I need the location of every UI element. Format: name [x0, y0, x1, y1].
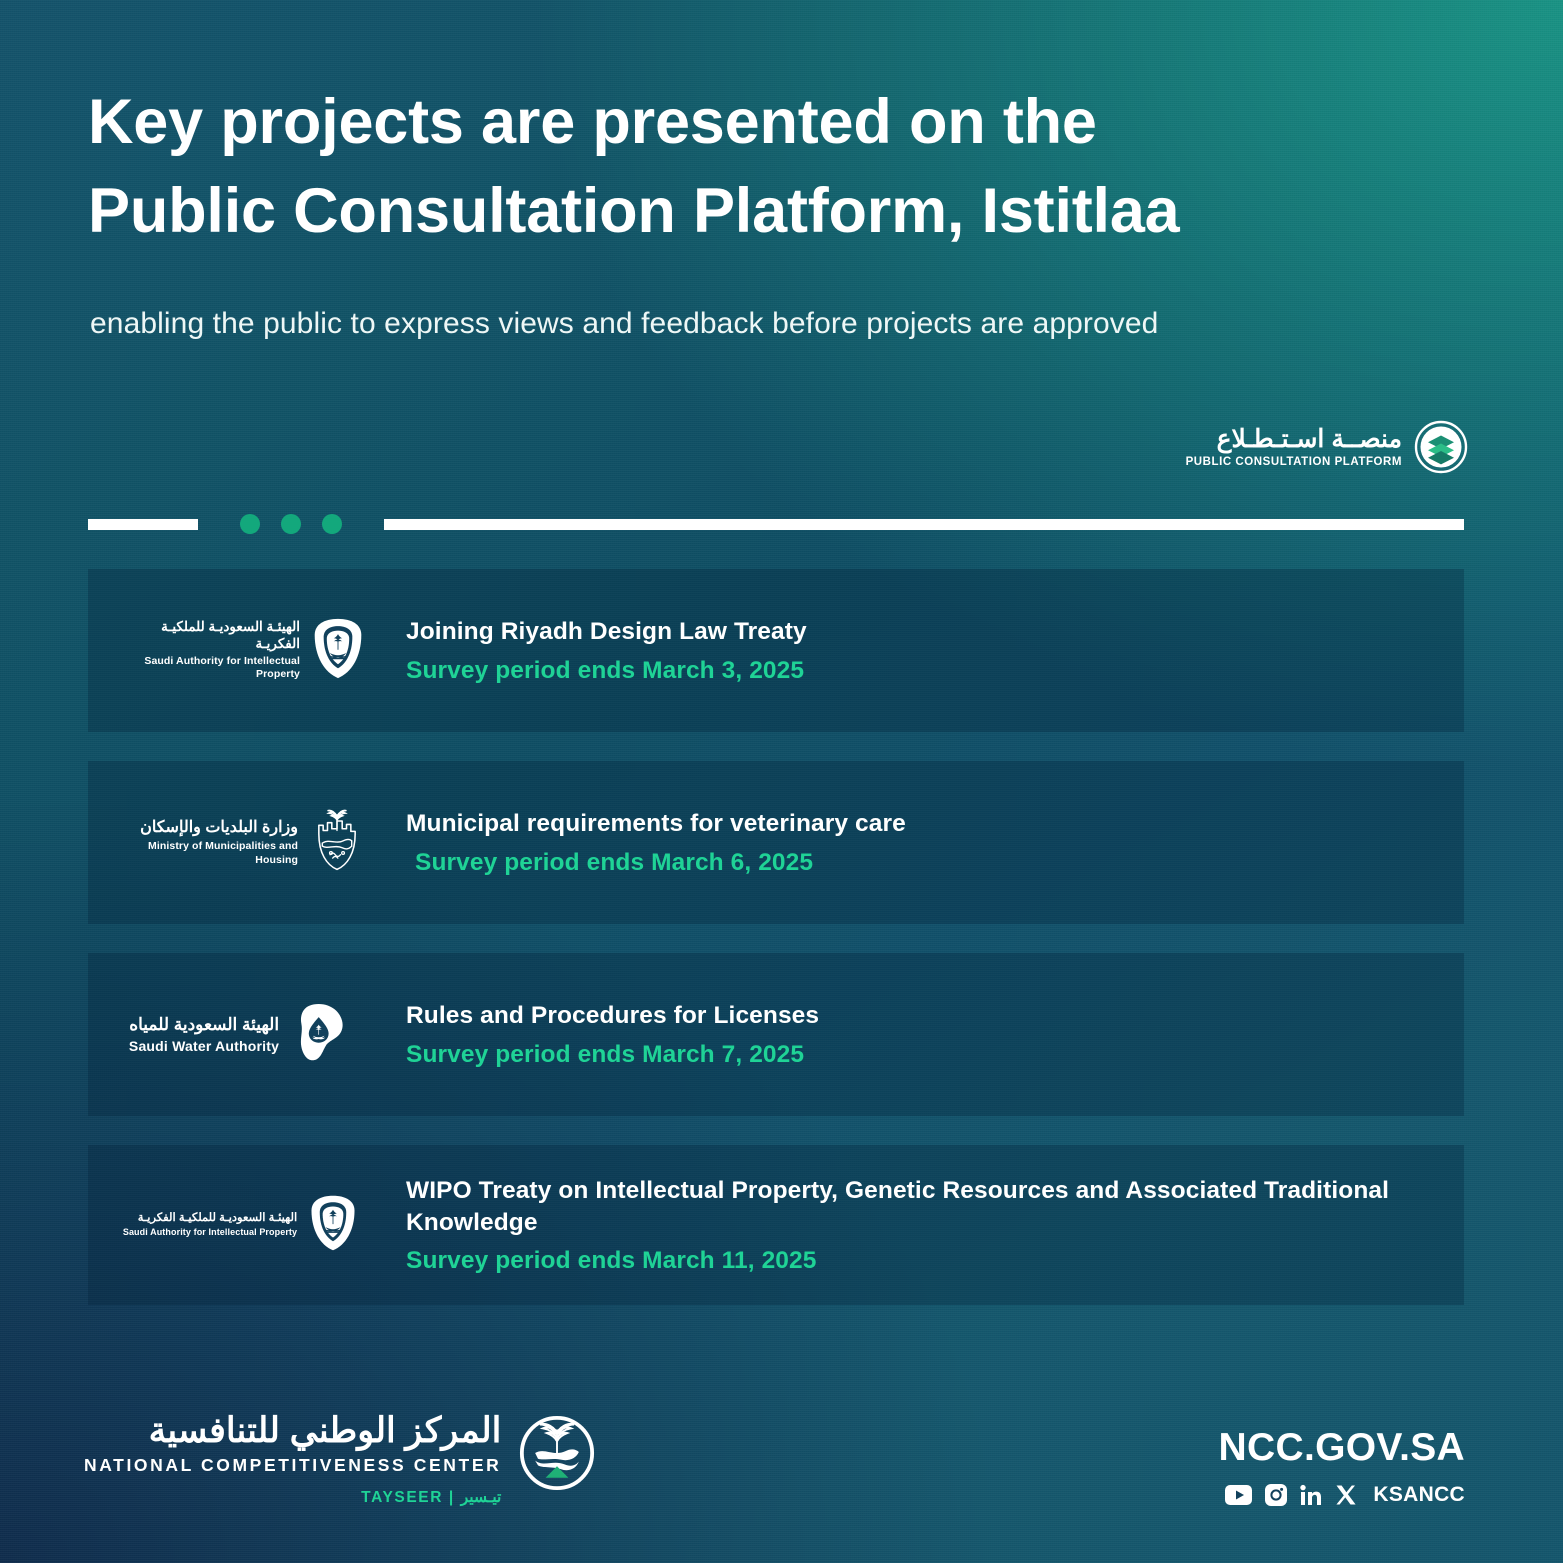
card-content: Municipal requirements for veterinary ca… [374, 808, 1436, 877]
survey-period: Survey period ends March 7, 2025 [406, 1041, 1436, 1069]
ncc-palm-swords-circle-icon [519, 1415, 595, 1496]
saudi-water-logo: الهيئة السعودية للمياه Saudi Water Autho… [129, 999, 351, 1070]
list-item[interactable]: الهيئة السعودية للمياه Saudi Water Autho… [88, 953, 1464, 1116]
ncc-name-arabic: المركز الوطني للتنافسية [84, 1411, 501, 1451]
divider-dots [240, 514, 342, 534]
ncc-name-english: NATIONAL COMPETITIVENESS CENTER [84, 1455, 501, 1476]
platform-logo: منصــة اسـتـطـلاع PUBLIC CONSULTATION PL… [1186, 420, 1468, 474]
project-title: Rules and Procedures for Licenses [406, 1000, 1436, 1032]
instagram-icon[interactable] [1265, 1484, 1287, 1506]
platform-logo-text: منصــة اسـتـطـلاع PUBLIC CONSULTATION PL… [1186, 426, 1402, 469]
org-name-english: Saudi Authority for Intellectual Propert… [123, 1227, 297, 1239]
saip-shield-palm-icon [309, 1194, 357, 1257]
card-content: WIPO Treaty on Intellectual Property, Ge… [374, 1175, 1436, 1276]
saip-shield-palm-icon [312, 617, 364, 685]
platform-logo-english: PUBLIC CONSULTATION PLATFORM [1186, 456, 1402, 468]
momah-skyline-emblem-icon [310, 808, 364, 877]
org-name-arabic: وزارة البلديات والإسكان [116, 818, 298, 838]
org-logo-text: وزارة البلديات والإسكان Ministry of Muni… [116, 818, 298, 867]
card-content: Rules and Procedures for Licenses Survey… [374, 1000, 1436, 1069]
poster-page: Key projects are presented on the Public… [0, 0, 1563, 1563]
saudi-water-droplet-map-icon [293, 999, 351, 1070]
project-title: Joining Riyadh Design Law Treaty [406, 616, 1436, 648]
org-name-english: Saudi Authority for Intellectual Propert… [116, 655, 300, 682]
website-url[interactable]: NCC.GOV.SA [1219, 1426, 1465, 1470]
page-subtitle: enabling the public to express views and… [90, 304, 1470, 345]
saip-logo: الهيئـة السعوديـة للملكيـة الفكريـة Saud… [116, 617, 364, 685]
org-name-arabic: الهيئـة السعوديـة للملكيـة الفكريـة [123, 1211, 297, 1225]
org-logo: الهيئة السعودية للمياه Saudi Water Autho… [116, 999, 374, 1070]
org-name-english: Ministry of Municipalities and Housing [116, 840, 298, 867]
org-logo: الهيئـة السعوديـة للملكيـة الفكريـة Saud… [116, 1194, 374, 1257]
divider-dot [281, 514, 301, 534]
project-list: الهيئـة السعوديـة للملكيـة الفكريـة Saud… [88, 569, 1464, 1334]
layers-stack-icon [1414, 420, 1468, 474]
x-twitter-icon[interactable] [1335, 1484, 1357, 1506]
project-title: Municipal requirements for veterinary ca… [406, 808, 1436, 840]
card-content: Joining Riyadh Design Law Treaty Survey … [374, 616, 1436, 685]
divider-dash [88, 519, 198, 530]
divider [88, 514, 1464, 534]
youtube-icon[interactable] [1225, 1485, 1252, 1505]
tayseer-label: TAYSEER | تيـسير [84, 1488, 501, 1507]
org-name-english: Saudi Water Authority [129, 1037, 279, 1055]
divider-dot [322, 514, 342, 534]
linkedin-icon[interactable] [1300, 1484, 1322, 1506]
saip-logo: الهيئـة السعوديـة للملكيـة الفكريـة Saud… [123, 1194, 357, 1257]
list-item[interactable]: وزارة البلديات والإسكان Ministry of Muni… [88, 761, 1464, 924]
org-logo: الهيئـة السعوديـة للملكيـة الفكريـة Saud… [116, 617, 374, 685]
divider-dot [240, 514, 260, 534]
divider-bar [384, 519, 1464, 530]
headline-line-2: Public Consultation Platform, Istitlaa [88, 167, 1428, 256]
momah-logo: وزارة البلديات والإسكان Ministry of Muni… [116, 808, 364, 877]
org-name-arabic: الهيئة السعودية للمياه [129, 1014, 279, 1035]
headline-line-1: Key projects are presented on the [88, 87, 1097, 157]
org-logo-text: الهيئـة السعوديـة للملكيـة الفكريـة Saud… [116, 619, 300, 682]
project-title: WIPO Treaty on Intellectual Property, Ge… [406, 1175, 1436, 1239]
page-title: Key projects are presented on the Public… [88, 78, 1428, 257]
list-item[interactable]: الهيئـة السعوديـة للملكيـة الفكريـة Saud… [88, 1145, 1464, 1305]
social-handle: KSANCC [1373, 1483, 1465, 1507]
org-logo: وزارة البلديات والإسكان Ministry of Muni… [116, 808, 374, 877]
org-logo-text: الهيئة السعودية للمياه Saudi Water Autho… [129, 1014, 279, 1055]
platform-logo-arabic: منصــة اسـتـطـلاع [1186, 426, 1402, 454]
org-name-arabic: الهيئـة السعوديـة للملكيـة الفكريـة [116, 619, 300, 653]
survey-period: Survey period ends March 3, 2025 [406, 657, 1436, 685]
ncc-logo-text: المركز الوطني للتنافسية NATIONAL COMPETI… [84, 1411, 501, 1507]
ncc-logo: المركز الوطني للتنافسية NATIONAL COMPETI… [84, 1411, 595, 1507]
survey-period: Survey period ends March 6, 2025 [406, 849, 1436, 877]
footer-contact: NCC.GOV.SA [1219, 1426, 1465, 1507]
social-links: KSANCC [1219, 1483, 1465, 1507]
list-item[interactable]: الهيئـة السعوديـة للملكيـة الفكريـة Saud… [88, 569, 1464, 732]
org-logo-text: الهيئـة السعوديـة للملكيـة الفكريـة Saud… [123, 1211, 297, 1239]
survey-period: Survey period ends March 11, 2025 [406, 1247, 1436, 1275]
